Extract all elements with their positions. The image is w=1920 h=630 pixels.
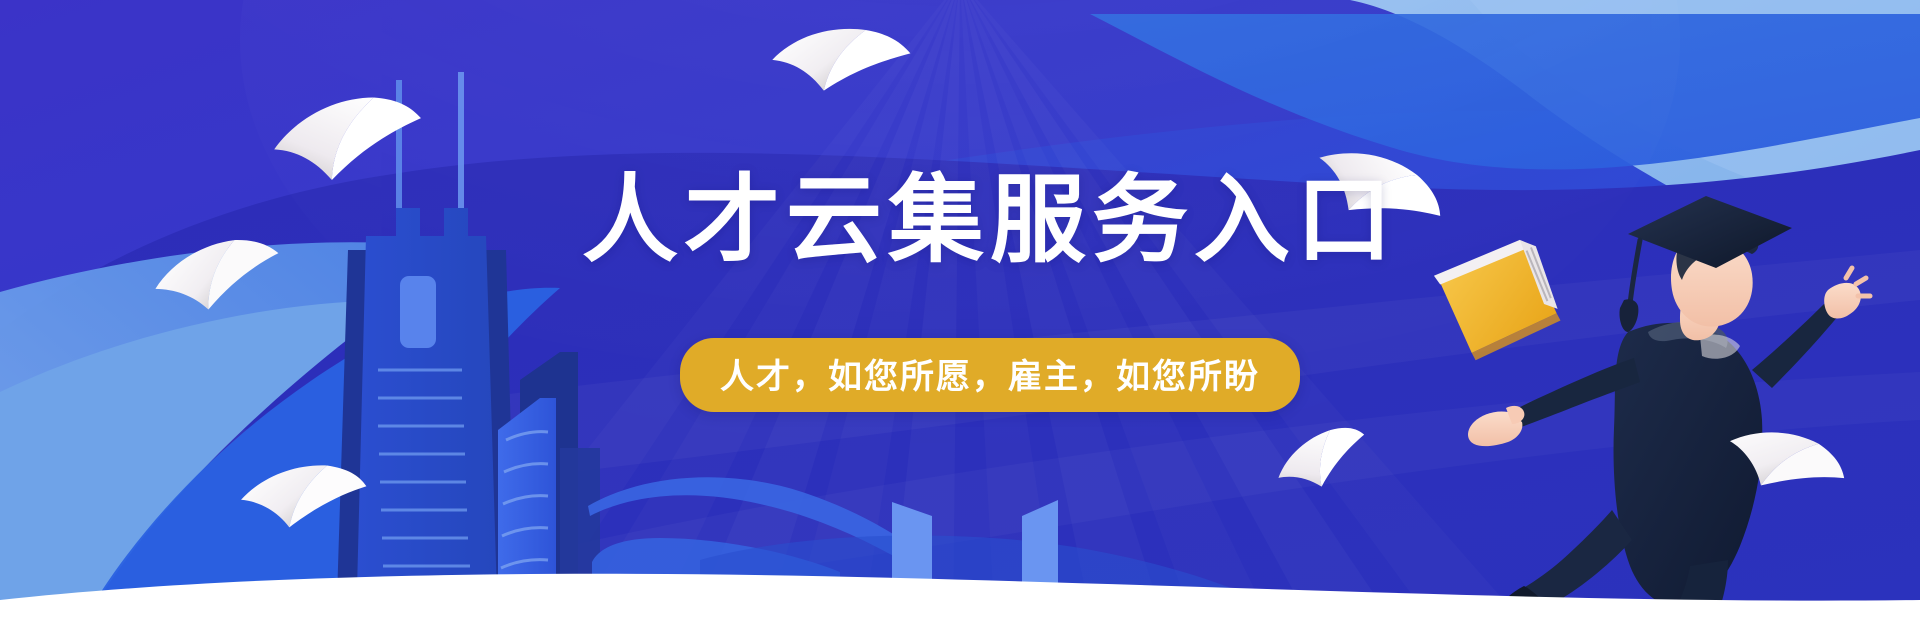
banner-root: 人才云集服务入口 人才，如您所愿，雇主，如您所盼 <box>0 0 1920 630</box>
banner-artwork <box>0 0 1920 630</box>
tower-window-panel <box>400 276 436 348</box>
